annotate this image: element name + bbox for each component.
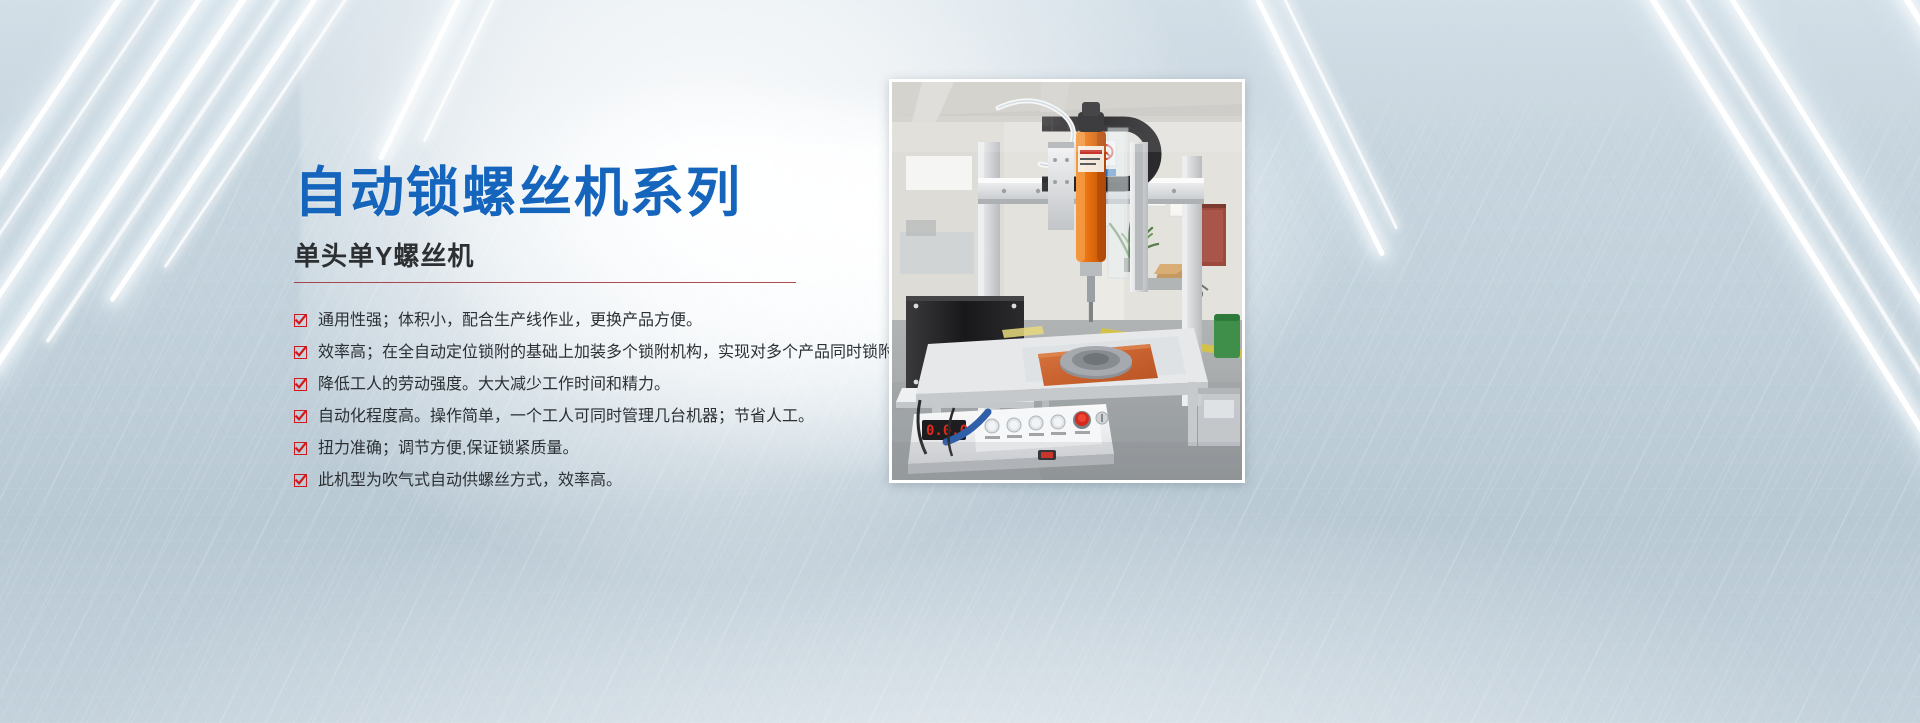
checkbox-checked-icon xyxy=(294,442,307,455)
feature-text: 扭力准确；调节方便,保证锁紧质量。 xyxy=(318,434,578,464)
list-item: 效率高；在全自动定位锁附的基础上加装多个锁附机构，实现对多个产品同时锁附。 xyxy=(294,338,914,369)
product-photo: 0.0.0 xyxy=(892,82,1242,480)
product-photo-illustration: 0.0.0 xyxy=(892,82,1242,480)
checkbox-checked-icon xyxy=(294,378,307,391)
title-divider xyxy=(294,282,796,283)
page-title: 自动锁螺丝机系列 xyxy=(294,166,742,220)
feature-text: 此机型为吹气式自动供螺丝方式，效率高。 xyxy=(318,466,622,496)
feature-text: 自动化程度高。操作简单，一个工人可同时管理几台机器；节省人工。 xyxy=(318,402,814,432)
list-item: 此机型为吹气式自动供螺丝方式，效率高。 xyxy=(294,466,914,497)
checkbox-checked-icon xyxy=(294,314,307,327)
list-item: 自动化程度高。操作简单，一个工人可同时管理几台机器；节省人工。 xyxy=(294,402,914,433)
feature-text: 通用性强；体积小，配合生产线作业，更换产品方便。 xyxy=(318,306,702,336)
checkbox-checked-icon xyxy=(294,474,307,487)
banner-stage: 自动锁螺丝机系列 单头单Y螺丝机 通用性强；体积小，配合生产线作业，更换产品方便… xyxy=(0,0,1920,723)
list-item: 通用性强；体积小，配合生产线作业，更换产品方便。 xyxy=(294,306,914,337)
checkbox-checked-icon xyxy=(294,346,307,359)
list-item: 扭力准确；调节方便,保证锁紧质量。 xyxy=(294,434,914,465)
page-subtitle: 单头单Y螺丝机 xyxy=(294,236,474,273)
feature-text: 降低工人的劳动强度。大大减少工作时间和精力。 xyxy=(318,370,670,400)
banner-content: 自动锁螺丝机系列 单头单Y螺丝机 通用性强；体积小，配合生产线作业，更换产品方便… xyxy=(0,0,1920,723)
checkbox-checked-icon xyxy=(294,410,307,423)
feature-text: 效率高；在全自动定位锁附的基础上加装多个锁附机构，实现对多个产品同时锁附。 xyxy=(318,338,910,368)
feature-list: 通用性强；体积小，配合生产线作业，更换产品方便。 效率高；在全自动定位锁附的基础… xyxy=(294,306,914,498)
product-photo-frame: 0.0.0 xyxy=(889,79,1245,483)
list-item: 降低工人的劳动强度。大大减少工作时间和精力。 xyxy=(294,370,914,401)
